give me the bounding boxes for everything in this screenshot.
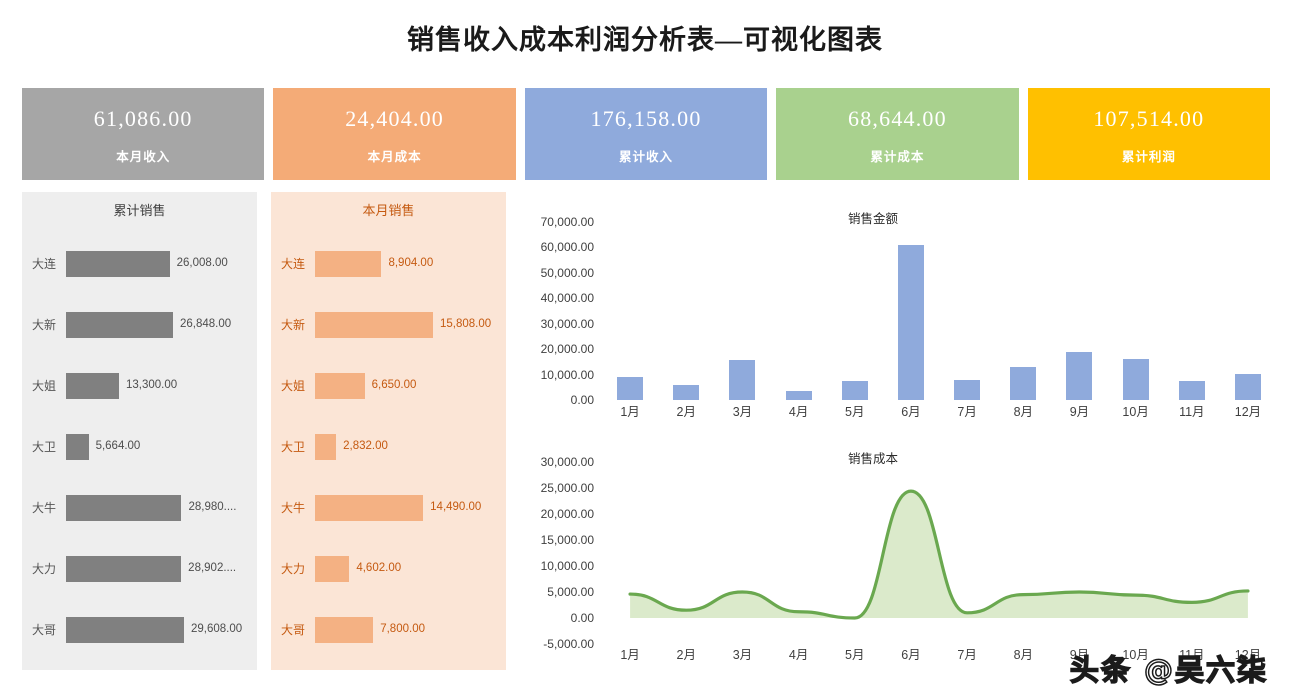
sales-cost-y-tick: 30,000.00 bbox=[541, 456, 594, 468]
rank-row: 大新26,848.00 bbox=[32, 294, 247, 355]
rank-row-label: 大牛 bbox=[32, 502, 66, 514]
rank-row-label: 大牛 bbox=[281, 502, 315, 514]
rank-row-label: 大新 bbox=[32, 319, 66, 331]
kpi-label: 累计利润 bbox=[1122, 146, 1176, 165]
kpi-card-cumulative-income[interactable]: 176,158.00 累计收入 bbox=[525, 88, 767, 180]
kpi-value: 68,644.00 bbox=[848, 107, 947, 131]
rank-row-label: 大哥 bbox=[281, 624, 315, 636]
sales-cost-y-tick: 0.00 bbox=[571, 612, 594, 624]
rank-row-bar-area: 4,602.00 bbox=[315, 556, 496, 582]
cumulative-sales-bar-list: 大连26,008.00大新26,848.00大姐13,300.00大卫5,664… bbox=[32, 233, 247, 660]
rank-row-value: 4,602.00 bbox=[356, 563, 401, 575]
page-title: 销售收入成本利润分析表—可视化图表 bbox=[0, 18, 1290, 57]
rank-row: 大连26,008.00 bbox=[32, 233, 247, 294]
month-sales-bar-list: 大连8,904.00大新15,808.00大姐6,650.00大卫2,832.0… bbox=[281, 233, 496, 660]
kpi-label: 累计收入 bbox=[619, 146, 673, 165]
kpi-card-month-income[interactable]: 61,086.00 本月收入 bbox=[22, 88, 264, 180]
rank-row-value: 15,808.00 bbox=[440, 319, 491, 331]
rank-row-value: 26,008.00 bbox=[177, 258, 228, 270]
rank-row-value: 7,800.00 bbox=[380, 624, 425, 636]
rank-row-bar-area: 28,902.... bbox=[66, 556, 247, 582]
rank-row-bar bbox=[315, 312, 433, 338]
sales-cost-y-axis: 30,000.0025,000.0020,000.0015,000.0010,0… bbox=[516, 446, 594, 654]
sales-amount-x-tick: 12月 bbox=[1220, 406, 1276, 419]
sales-cost-x-tick: 1月 bbox=[602, 649, 658, 662]
sales-amount-x-tick: 1月 bbox=[602, 406, 658, 419]
kpi-value: 61,086.00 bbox=[94, 107, 193, 131]
sales-amount-x-tick: 2月 bbox=[658, 406, 714, 419]
rank-row-bar-area: 29,608.00 bbox=[66, 617, 247, 643]
rank-row: 大力28,902.... bbox=[32, 538, 247, 599]
kpi-card-cumulative-cost[interactable]: 68,644.00 累计成本 bbox=[776, 88, 1018, 180]
rank-row-bar bbox=[66, 312, 173, 338]
bar[interactable] bbox=[954, 380, 980, 400]
rank-row-bar-area: 13,300.00 bbox=[66, 373, 247, 399]
rank-row-bar bbox=[315, 495, 423, 521]
kpi-value: 24,404.00 bbox=[345, 107, 444, 131]
bar-slot[interactable] bbox=[883, 222, 939, 400]
rank-row-bar bbox=[66, 373, 119, 399]
kpi-card-month-cost[interactable]: 24,404.00 本月成本 bbox=[273, 88, 515, 180]
bar-slot[interactable] bbox=[995, 222, 1051, 400]
sales-amount-x-tick: 3月 bbox=[714, 406, 770, 419]
rank-row-bar-area: 2,832.00 bbox=[315, 434, 496, 460]
cumulative-sales-panel: 累计销售 大连26,008.00大新26,848.00大姐13,300.00大卫… bbox=[22, 192, 257, 670]
kpi-label: 本月收入 bbox=[116, 146, 170, 165]
bar-slot[interactable] bbox=[827, 222, 883, 400]
rank-row-bar bbox=[66, 434, 89, 460]
rank-row-value: 6,650.00 bbox=[372, 380, 417, 392]
rank-row-label: 大力 bbox=[32, 563, 66, 575]
rank-row-value: 26,848.00 bbox=[180, 319, 231, 331]
bar[interactable] bbox=[1066, 352, 1092, 400]
rank-row-label: 大力 bbox=[281, 563, 315, 575]
bar[interactable] bbox=[842, 381, 868, 400]
bar[interactable] bbox=[1179, 381, 1205, 400]
rank-row-value: 14,490.00 bbox=[430, 502, 481, 514]
sales-amount-y-tick: 50,000.00 bbox=[541, 267, 594, 279]
bar[interactable] bbox=[898, 245, 924, 400]
sales-cost-x-tick: 3月 bbox=[714, 649, 770, 662]
sales-cost-x-tick: 8月 bbox=[995, 649, 1051, 662]
rank-row-bar bbox=[66, 251, 170, 277]
bar[interactable] bbox=[729, 360, 755, 400]
rank-row-value: 28,980.... bbox=[188, 502, 236, 514]
bar[interactable] bbox=[673, 385, 699, 400]
bar-slot[interactable] bbox=[1051, 222, 1107, 400]
rank-row-bar bbox=[315, 251, 381, 277]
rank-row: 大卫2,832.00 bbox=[281, 416, 496, 477]
bar-slot[interactable] bbox=[771, 222, 827, 400]
rank-row-bar bbox=[315, 556, 349, 582]
rank-row-bar-area: 8,904.00 bbox=[315, 251, 496, 277]
cumulative-sales-title: 累计销售 bbox=[32, 204, 247, 217]
sales-amount-x-tick: 7月 bbox=[939, 406, 995, 419]
rank-row: 大卫5,664.00 bbox=[32, 416, 247, 477]
rank-row-bar bbox=[315, 617, 373, 643]
rank-row-value: 5,664.00 bbox=[96, 441, 141, 453]
bar-slot[interactable] bbox=[714, 222, 770, 400]
sales-amount-y-tick: 70,000.00 bbox=[541, 216, 594, 228]
kpi-label: 本月成本 bbox=[368, 146, 422, 165]
rank-row-bar-area: 7,800.00 bbox=[315, 617, 496, 643]
rank-row: 大姐6,650.00 bbox=[281, 355, 496, 416]
sales-amount-x-tick: 5月 bbox=[827, 406, 883, 419]
rank-row: 大连8,904.00 bbox=[281, 233, 496, 294]
rank-row-bar-area: 6,650.00 bbox=[315, 373, 496, 399]
rank-row: 大牛14,490.00 bbox=[281, 477, 496, 538]
sales-cost-x-tick: 6月 bbox=[883, 649, 939, 662]
kpi-label: 累计成本 bbox=[870, 146, 924, 165]
rank-row-value: 28,902.... bbox=[188, 563, 236, 575]
kpi-value: 107,514.00 bbox=[1093, 107, 1204, 131]
month-sales-title: 本月销售 bbox=[281, 204, 496, 217]
rank-row: 大姐13,300.00 bbox=[32, 355, 247, 416]
rank-row-value: 13,300.00 bbox=[126, 380, 177, 392]
rank-row-value: 29,608.00 bbox=[191, 624, 242, 636]
rank-row-label: 大连 bbox=[32, 258, 66, 270]
sales-amount-y-tick: 0.00 bbox=[571, 394, 594, 406]
bar-slot[interactable] bbox=[1220, 222, 1276, 400]
bar-slot[interactable] bbox=[602, 222, 658, 400]
rank-row: 大哥29,608.00 bbox=[32, 599, 247, 660]
sales-cost-x-tick: 7月 bbox=[939, 649, 995, 662]
sales-cost-area-series bbox=[602, 462, 1276, 644]
bar[interactable] bbox=[1123, 359, 1149, 400]
sales-cost-x-tick: 2月 bbox=[658, 649, 714, 662]
rank-row-bar-area: 15,808.00 bbox=[315, 312, 496, 338]
sales-amount-x-axis: 1月2月3月4月5月6月7月8月9月10月11月12月 bbox=[602, 406, 1276, 419]
sales-amount-x-tick: 6月 bbox=[883, 406, 939, 419]
sales-amount-x-tick: 10月 bbox=[1108, 406, 1164, 419]
bar[interactable] bbox=[786, 391, 812, 400]
sales-amount-x-tick: 11月 bbox=[1164, 406, 1220, 419]
rank-row-bar-area: 26,008.00 bbox=[66, 251, 247, 277]
sales-amount-y-tick: 60,000.00 bbox=[541, 241, 594, 253]
sales-cost-y-tick: 25,000.00 bbox=[541, 482, 594, 494]
sales-cost-x-tick: 4月 bbox=[771, 649, 827, 662]
rank-row-bar bbox=[66, 556, 181, 582]
rank-row-label: 大姐 bbox=[281, 380, 315, 392]
rank-row-label: 大卫 bbox=[281, 441, 315, 453]
rank-row-bar bbox=[66, 617, 184, 643]
rank-row-bar bbox=[315, 434, 336, 460]
rank-row-bar-area: 26,848.00 bbox=[66, 312, 247, 338]
sales-amount-bars bbox=[602, 222, 1276, 400]
bar-slot[interactable] bbox=[1164, 222, 1220, 400]
rank-row-label: 大哥 bbox=[32, 624, 66, 636]
bar-slot[interactable] bbox=[1108, 222, 1164, 400]
sales-amount-y-tick: 40,000.00 bbox=[541, 292, 594, 304]
kpi-value: 176,158.00 bbox=[591, 107, 702, 131]
rank-row-label: 大新 bbox=[281, 319, 315, 331]
sales-amount-x-tick: 8月 bbox=[995, 406, 1051, 419]
rank-row-value: 2,832.00 bbox=[343, 441, 388, 453]
sales-cost-chart: 销售成本 30,000.0025,000.0020,000.0015,000.0… bbox=[516, 446, 1276, 666]
sales-cost-y-tick: -5,000.00 bbox=[543, 638, 594, 650]
rank-row-value: 8,904.00 bbox=[388, 258, 433, 270]
sales-cost-x-tick: 5月 bbox=[827, 649, 883, 662]
bar-slot[interactable] bbox=[658, 222, 714, 400]
rank-row-bar bbox=[315, 373, 365, 399]
sales-cost-y-tick: 5,000.00 bbox=[547, 586, 594, 598]
sales-amount-y-tick: 30,000.00 bbox=[541, 318, 594, 330]
rank-row: 大新15,808.00 bbox=[281, 294, 496, 355]
sales-cost-y-tick: 15,000.00 bbox=[541, 534, 594, 546]
kpi-card-cumulative-profit[interactable]: 107,514.00 累计利润 bbox=[1028, 88, 1270, 180]
bar[interactable] bbox=[1235, 374, 1261, 400]
sales-amount-x-tick: 9月 bbox=[1051, 406, 1107, 419]
sales-cost-y-tick: 10,000.00 bbox=[541, 560, 594, 572]
bar-slot[interactable] bbox=[939, 222, 995, 400]
rank-row-label: 大连 bbox=[281, 258, 315, 270]
sales-cost-y-tick: 20,000.00 bbox=[541, 508, 594, 520]
sales-amount-y-axis: 70,000.0060,000.0050,000.0040,000.0030,0… bbox=[516, 200, 594, 410]
rank-row-bar-area: 14,490.00 bbox=[315, 495, 496, 521]
sales-amount-plot-area bbox=[602, 222, 1276, 400]
watermark: 头条 @吴六柒 bbox=[1070, 647, 1268, 689]
rank-row-label: 大卫 bbox=[32, 441, 66, 453]
sales-amount-y-tick: 10,000.00 bbox=[541, 369, 594, 381]
sales-amount-chart: 销售金额 70,000.0060,000.0050,000.0040,000.0… bbox=[516, 200, 1276, 430]
rank-row: 大力4,602.00 bbox=[281, 538, 496, 599]
rank-row-bar-area: 5,664.00 bbox=[66, 434, 247, 460]
bar[interactable] bbox=[617, 377, 643, 400]
sales-amount-x-tick: 4月 bbox=[771, 406, 827, 419]
month-sales-panel: 本月销售 大连8,904.00大新15,808.00大姐6,650.00大卫2,… bbox=[271, 192, 506, 670]
rank-row: 大哥7,800.00 bbox=[281, 599, 496, 660]
kpi-card-row: 61,086.00 本月收入 24,404.00 本月成本 176,158.00… bbox=[22, 88, 1270, 180]
sales-cost-plot-area bbox=[602, 462, 1276, 644]
sales-amount-y-tick: 20,000.00 bbox=[541, 343, 594, 355]
rank-row-bar-area: 28,980.... bbox=[66, 495, 247, 521]
rank-row: 大牛28,980.... bbox=[32, 477, 247, 538]
bar[interactable] bbox=[1010, 367, 1036, 400]
rank-row-label: 大姐 bbox=[32, 380, 66, 392]
rank-row-bar bbox=[66, 495, 181, 521]
